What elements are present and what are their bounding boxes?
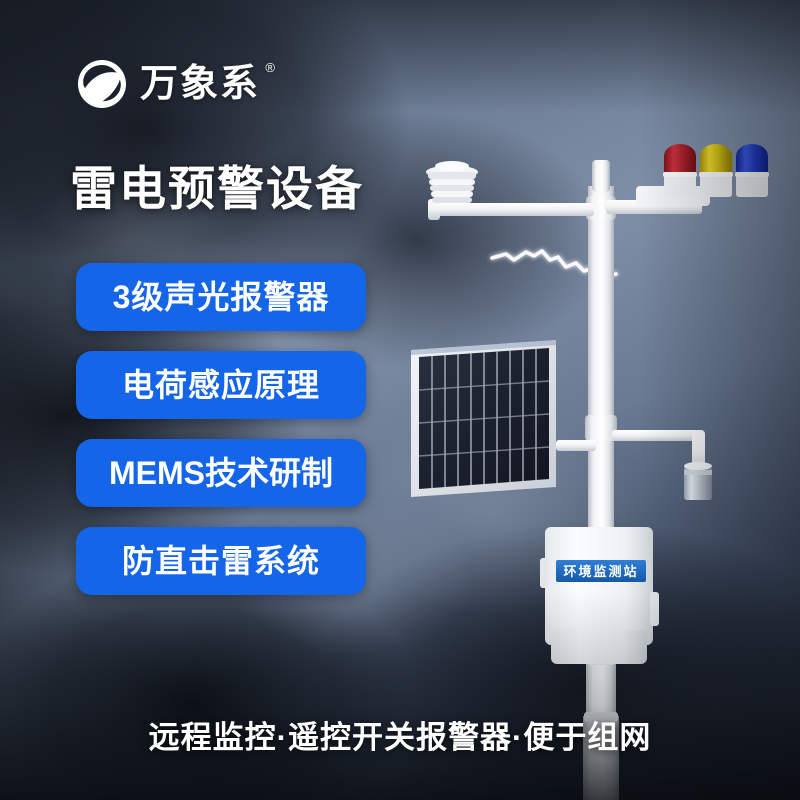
feature-pill-4[interactable]: 防直击雷系统 bbox=[76, 527, 366, 595]
feature-pill-3[interactable]: MEMS技术研制 bbox=[76, 439, 366, 507]
footer-tagline: 远程监控·遥控开关报警器·便于组网 bbox=[0, 712, 800, 757]
product-poster: 环境监测站 万象系 ® 雷电预警设备 3级声光报警器 电荷感应原理 MEMS技术… bbox=[0, 0, 800, 800]
feature-pill-list: 3级声光报警器 电荷感应原理 MEMS技术研制 防直击雷系统 bbox=[76, 263, 366, 595]
feature-pill-1-label: 3级声光报警器 bbox=[113, 281, 330, 313]
feature-pill-4-label: 防直击雷系统 bbox=[122, 545, 320, 577]
feature-pill-3-label: MEMS技术研制 bbox=[109, 457, 333, 489]
brand-logo: 万象系 ® bbox=[76, 58, 260, 110]
brand-name: 万象系 bbox=[140, 63, 260, 105]
feature-pill-1[interactable]: 3级声光报警器 bbox=[76, 263, 366, 331]
swirl-sphere-icon bbox=[76, 58, 128, 110]
feature-pill-2-label: 电荷感应原理 bbox=[122, 369, 320, 401]
registered-trademark-mark: ® bbox=[265, 61, 277, 74]
feature-pill-2[interactable]: 电荷感应原理 bbox=[76, 351, 366, 419]
brand-name-wrapper: 万象系 ® bbox=[140, 65, 260, 103]
page-title: 雷电预警设备 bbox=[70, 163, 364, 215]
